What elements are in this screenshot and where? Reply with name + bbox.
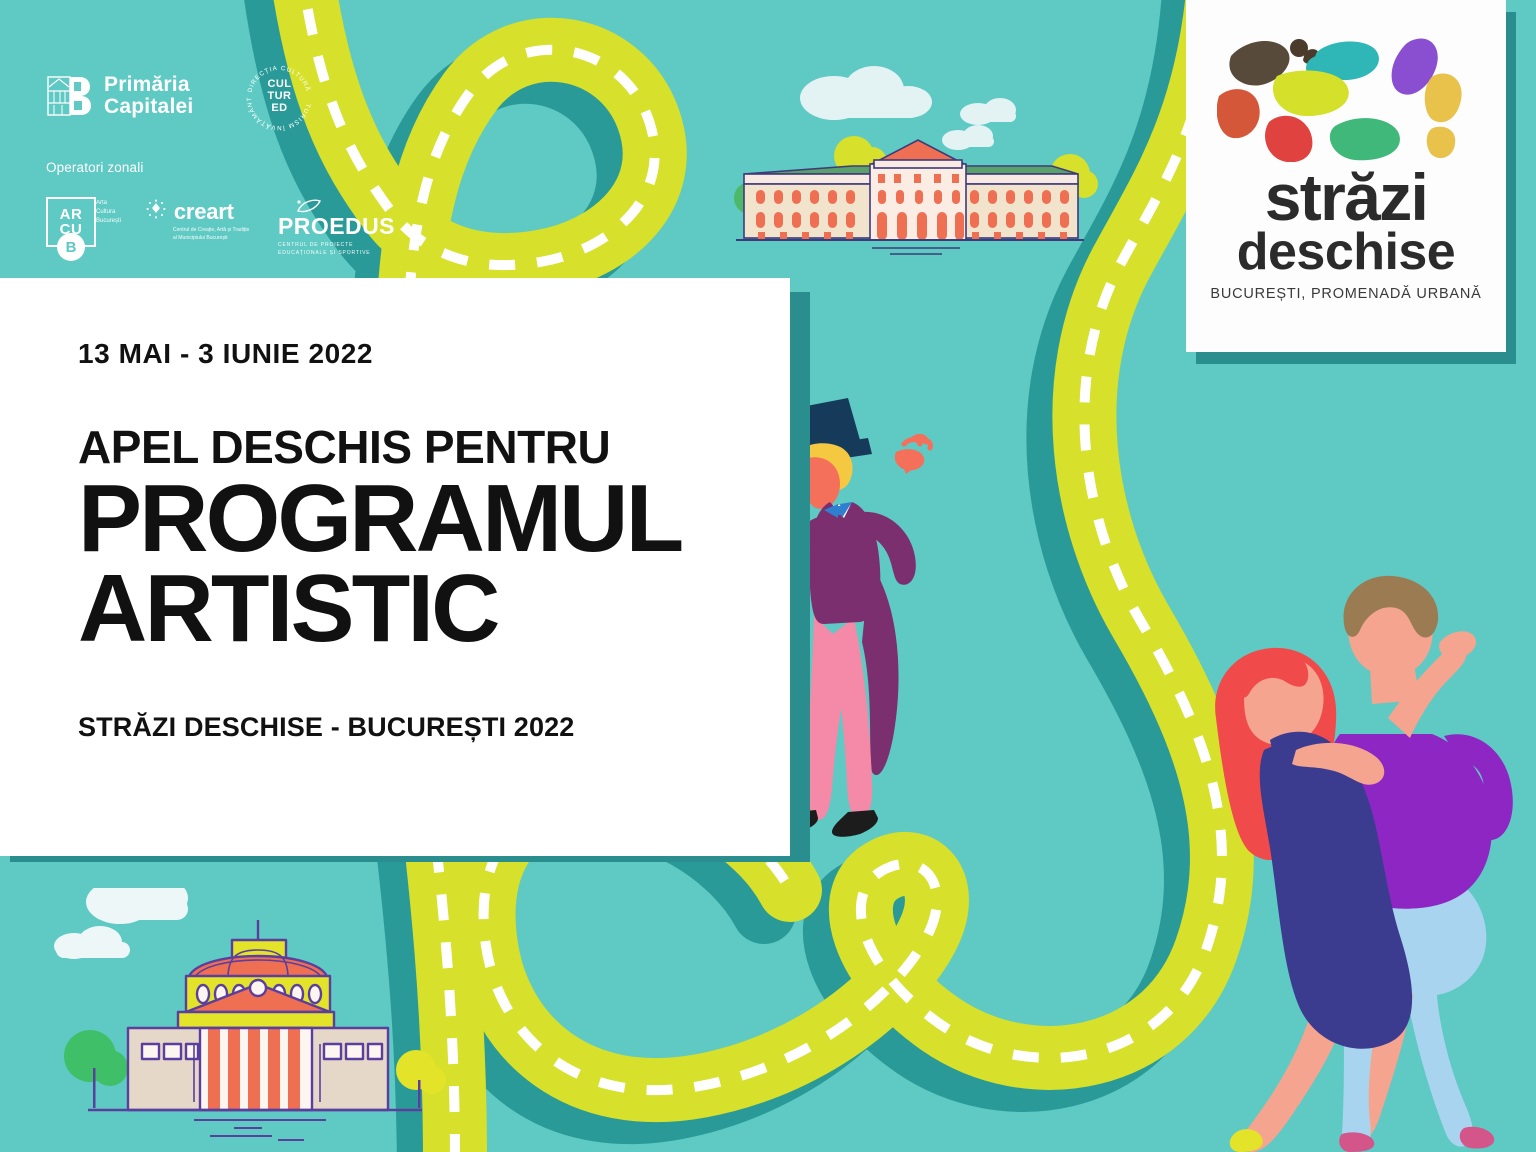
proedus-descriptor: CENTRUL DE PROIECTE EDUCAȚIONALE ȘI SPOR… [278,241,376,257]
proedus-leaf-icon [296,199,322,213]
proedus-descriptor-line-2: EDUCAȚIONALE ȘI SPORTIVE [278,249,376,257]
creart-wordmark: creart [174,199,234,225]
palace-building-illustration [722,62,1100,282]
cultured-line-1: CUL [267,78,291,90]
footprint-green [1330,118,1400,160]
footprint-red [1265,116,1312,162]
poster-canvas: 13 MAI - 3 IUNIE 2022 APEL DESCHIS PENTR… [0,0,1536,1152]
headline-card: 13 MAI - 3 IUNIE 2022 APEL DESCHIS PENTR… [0,278,790,856]
creart-descriptor: Centrul de Creație, Artă și Tradiție al … [173,227,252,243]
clouds [800,66,1016,150]
clouds [54,888,188,959]
cultured-wordmark: CUL TUR ED [241,58,317,134]
creart-logo: creart Centrul de Creație, Artă și Tradi… [143,197,252,243]
proedus-logo: PROEDUS CENTRUL DE PROIECTE EDUCAȚIONALE… [278,197,376,257]
primary-logo-row: Primăria Capitalei DIRECȚIA CULTURĂ TURI… [46,58,376,134]
proedus-wordmark: PROEDUS [278,213,376,240]
footprint-orange [1217,89,1260,138]
palace-body [736,140,1084,254]
brand-logo-card: străzi deschise BUCUREȘTI, PROMENADĂ URB… [1186,0,1506,352]
arcub-circle-b: B [57,233,85,261]
primaria-line-2: Capitalei [104,95,193,118]
athenaeum-building-illustration [42,888,462,1152]
arcub-logo: AR CU B Arta Cultura București [46,197,117,261]
athenaeum-body [88,920,422,1140]
cultured-line-2: TUR [267,90,291,102]
footprint-gold [1425,73,1462,158]
arcub-line-1: AR [60,207,83,222]
cultured-line-3: ED [271,102,287,114]
primaria-building-b-icon [46,73,92,119]
institutional-logos: Primăria Capitalei DIRECȚIA CULTURĂ TURI… [46,58,376,261]
title-line-2: ARTISTIC [78,555,498,662]
footprints-graphic [1217,34,1475,162]
arcub-descriptor: Arta Cultura București [96,199,121,226]
footprint-yellowgreen [1273,71,1349,116]
proedus-descriptor-line-1: CENTRUL DE PROIECTE [278,241,376,249]
brand-name-strazi: străzi [1265,168,1428,226]
creart-diamond-icon [143,199,169,225]
brand-tagline: BUCUREȘTI, PROMENADĂ URBANĂ [1210,286,1481,302]
cultured-logo: DIRECȚIA CULTURĂ TURISM ÎNVĂȚĂMÂNT CUL T… [241,58,317,134]
dancing-couple-illustration [1192,568,1536,1152]
primaria-capitalei-text: Primăria Capitalei [104,74,193,118]
brand-name-deschise: deschise [1237,228,1455,277]
event-subtitle: STRĂZI DESCHISE - BUCUREȘTI 2022 [78,712,790,743]
title-main: PROGRAMUL ARTISTIC [78,474,790,654]
operators-label: Operatori zonali [46,160,376,175]
operators-logo-row: AR CU B Arta Cultura București [46,197,376,261]
primaria-capitalei-logo: Primăria Capitalei [46,73,193,119]
event-date: 13 MAI - 3 IUNIE 2022 [78,338,790,370]
primaria-line-1: Primăria [104,73,190,96]
title-kicker: APEL DESCHIS PENTRU [78,424,790,470]
